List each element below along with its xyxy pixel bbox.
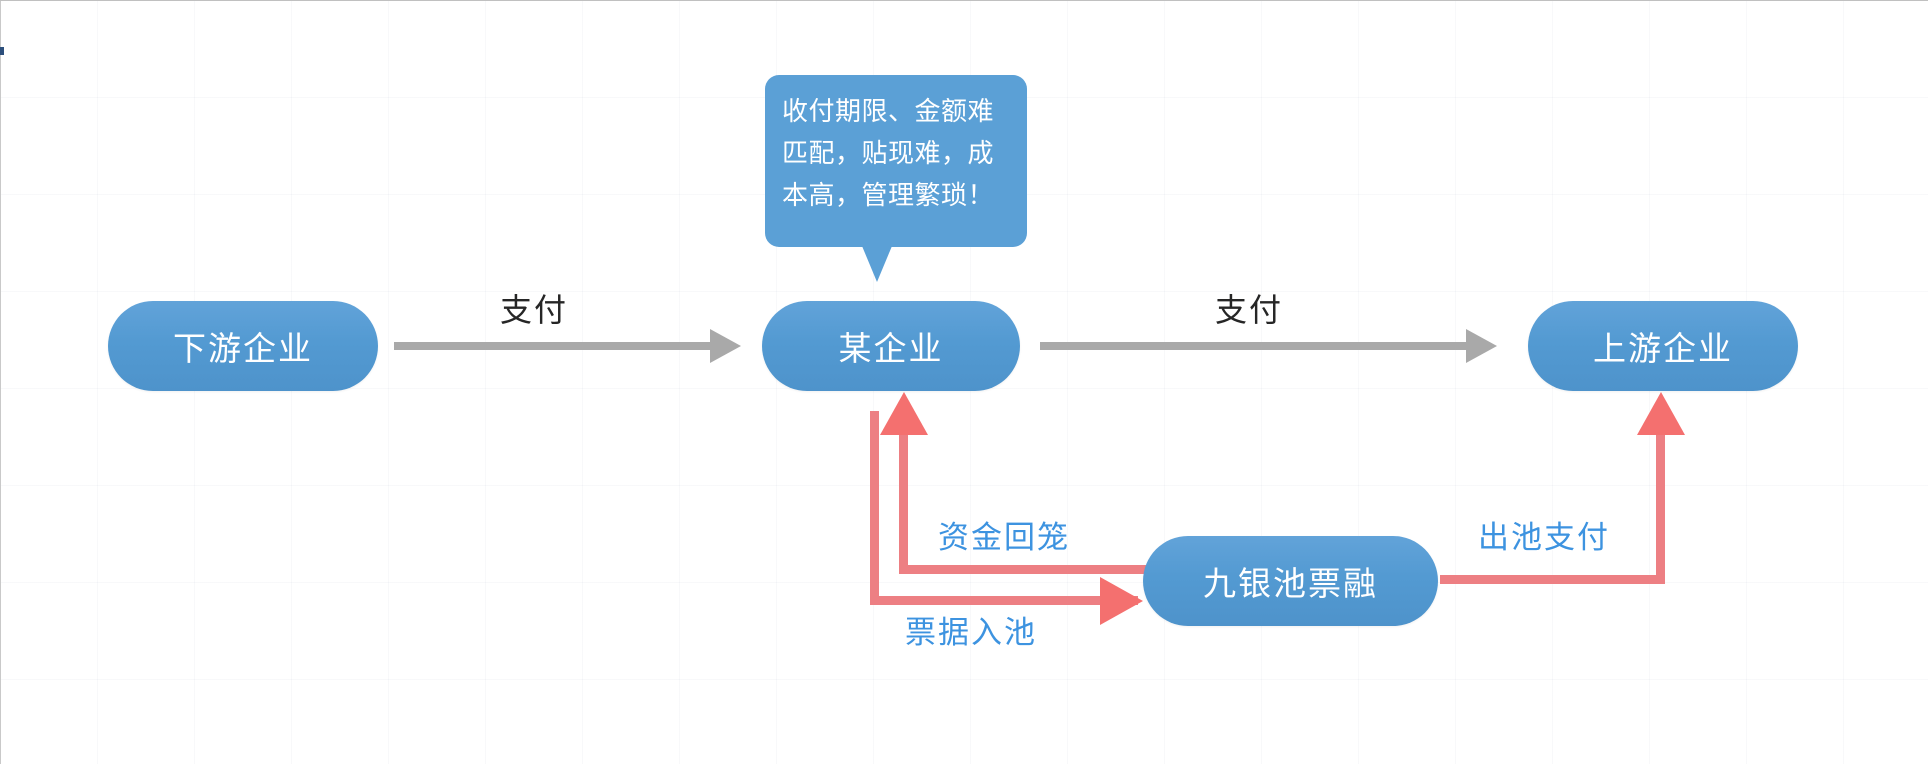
edge-label-pay-2: 支付 — [1215, 285, 1283, 331]
edge-label-recovery: 资金回笼 — [938, 512, 1070, 557]
node-downstream-label: 下游企业 — [173, 322, 313, 370]
node-pool-label: 九银池票融 — [1203, 557, 1378, 605]
arrow-pay-downstream-to-company — [394, 342, 714, 350]
node-upstream-label: 上游企业 — [1593, 322, 1733, 370]
edge-label-pay-1: 支付 — [500, 285, 568, 331]
node-company[interactable]: 某企业 — [762, 301, 1020, 391]
node-company-label: 某企业 — [839, 322, 944, 370]
edge-label-into-pool: 票据入池 — [905, 607, 1037, 652]
page-border-left — [0, 0, 1, 764]
arrowhead-right-icon — [1466, 329, 1497, 363]
page-border-top — [0, 0, 1928, 1]
left-edge-marker — [0, 47, 4, 55]
arrowhead-up-icon — [880, 392, 928, 435]
arrowhead-right-icon — [1100, 577, 1143, 625]
node-downstream-enterprise[interactable]: 下游企业 — [108, 301, 378, 391]
arrow-recovery-horizontal — [899, 565, 1151, 574]
arrow-into-pool-horizontal — [870, 596, 1138, 605]
node-upstream-enterprise[interactable]: 上游企业 — [1528, 301, 1798, 391]
edge-label-out-pay: 出池支付 — [1478, 512, 1610, 557]
diagram-canvas: 收付期限、金额难匹配，贴现难，成本高，管理繁琐！ 支付 支付 票据入池 资金回笼… — [0, 0, 1928, 764]
arrowhead-up-icon — [1637, 392, 1685, 435]
node-bill-pool-financing[interactable]: 九银池票融 — [1143, 536, 1438, 626]
arrow-pay-company-to-upstream — [1040, 342, 1470, 350]
arrow-recovery-vertical — [899, 412, 908, 570]
arrow-out-pay-vertical — [1656, 412, 1665, 584]
arrow-out-pay-horizontal — [1440, 575, 1665, 584]
callout-bubble: 收付期限、金额难匹配，贴现难，成本高，管理繁琐！ — [765, 75, 1027, 247]
arrow-into-pool-vertical — [870, 411, 879, 605]
arrowhead-right-icon — [710, 329, 741, 363]
callout-bubble-tail-icon — [862, 246, 892, 282]
